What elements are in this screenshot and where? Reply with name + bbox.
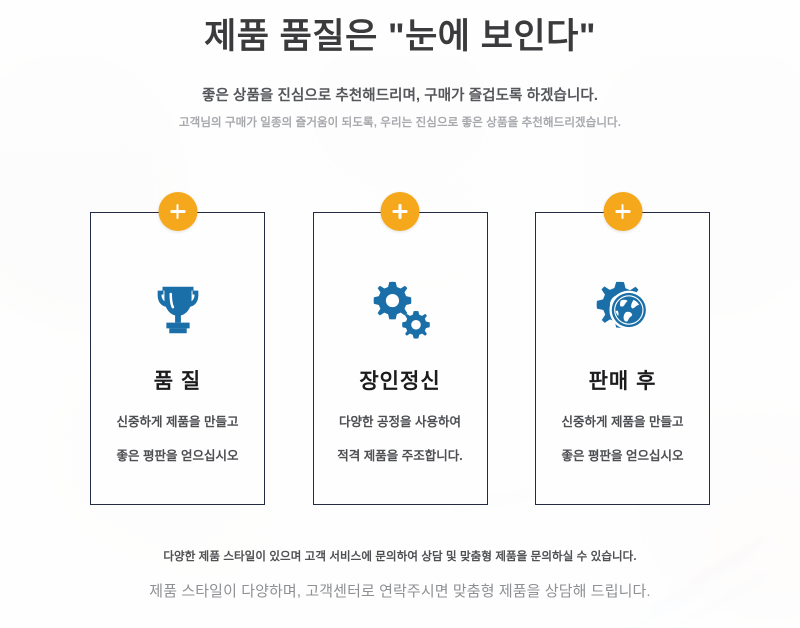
card-body: 신중하게 제품을 만들고 좋은 평판을 얻으십시오 [540, 416, 705, 462]
globe-gear-icon [536, 271, 709, 349]
page-header: 제품 품질은 "눈에 보인다" 좋은 상품을 진심으로 추천해드리며, 구매가 … [0, 16, 800, 130]
card-body: 신중하게 제품을 만들고 좋은 평판을 얻으십시오 [95, 416, 260, 462]
feature-card-quality[interactable]: 품 질 신중하게 제품을 만들고 좋은 평판을 얻으십시오 [90, 212, 265, 505]
card-line-2: 적격 제품을 주조합니다. [318, 450, 483, 463]
plus-icon [170, 204, 185, 219]
subtitle-secondary: 고객님의 구매가 일종의 즐거움이 되도록, 우리는 진심으로 좋은 상품을 추… [0, 114, 800, 130]
footer-line-primary: 다양한 제품 스타일이 있으며 고객 서비스에 문의하여 상담 및 맞춤형 제품… [0, 548, 800, 564]
card-line-1: 다양한 공정을 사용하여 [318, 416, 483, 429]
card-line-1: 신중하게 제품을 만들고 [95, 416, 260, 429]
card-title: 판매 후 [536, 365, 709, 395]
card-line-1: 신중하게 제품을 만들고 [540, 416, 705, 429]
plus-icon [615, 204, 630, 219]
card-body: 다양한 공정을 사용하여 적격 제품을 주조합니다. [318, 416, 483, 462]
feature-card-list: 품 질 신중하게 제품을 만들고 좋은 평판을 얻으십시오 [90, 212, 710, 506]
page-root: 제품 품질은 "눈에 보인다" 좋은 상품을 진심으로 추천해드리며, 구매가 … [0, 0, 800, 628]
feature-card-after-sales[interactable]: 판매 후 신중하게 제품을 만들고 좋은 평판을 얻으십시오 [535, 212, 710, 505]
plus-badge[interactable] [158, 192, 197, 231]
plus-badge[interactable] [603, 192, 642, 231]
gears-icon [314, 271, 487, 349]
card-title: 품 질 [91, 365, 264, 395]
card-line-2: 좋은 평판을 얻으십시오 [95, 450, 260, 463]
card-line-2: 좋은 평판을 얻으십시오 [540, 450, 705, 463]
plus-icon [393, 204, 408, 219]
plus-badge[interactable] [381, 192, 420, 231]
footer-line-secondary: 제품 스타일이 다양하며, 고객센터로 연락주시면 맞춤형 제품을 상담해 드립… [0, 580, 800, 601]
page-footer: 다양한 제품 스타일이 있으며 고객 서비스에 문의하여 상담 및 맞춤형 제품… [0, 548, 800, 601]
trophy-icon [91, 271, 264, 349]
subtitle-primary: 좋은 상품을 진심으로 추천해드리며, 구매가 즐겁도록 하겠습니다. [0, 84, 800, 105]
page-title: 제품 품질은 "눈에 보인다" [0, 16, 800, 58]
card-title: 장인정신 [314, 365, 487, 395]
feature-card-craftsmanship[interactable]: 장인정신 다양한 공정을 사용하여 적격 제품을 주조합니다. [313, 212, 488, 505]
